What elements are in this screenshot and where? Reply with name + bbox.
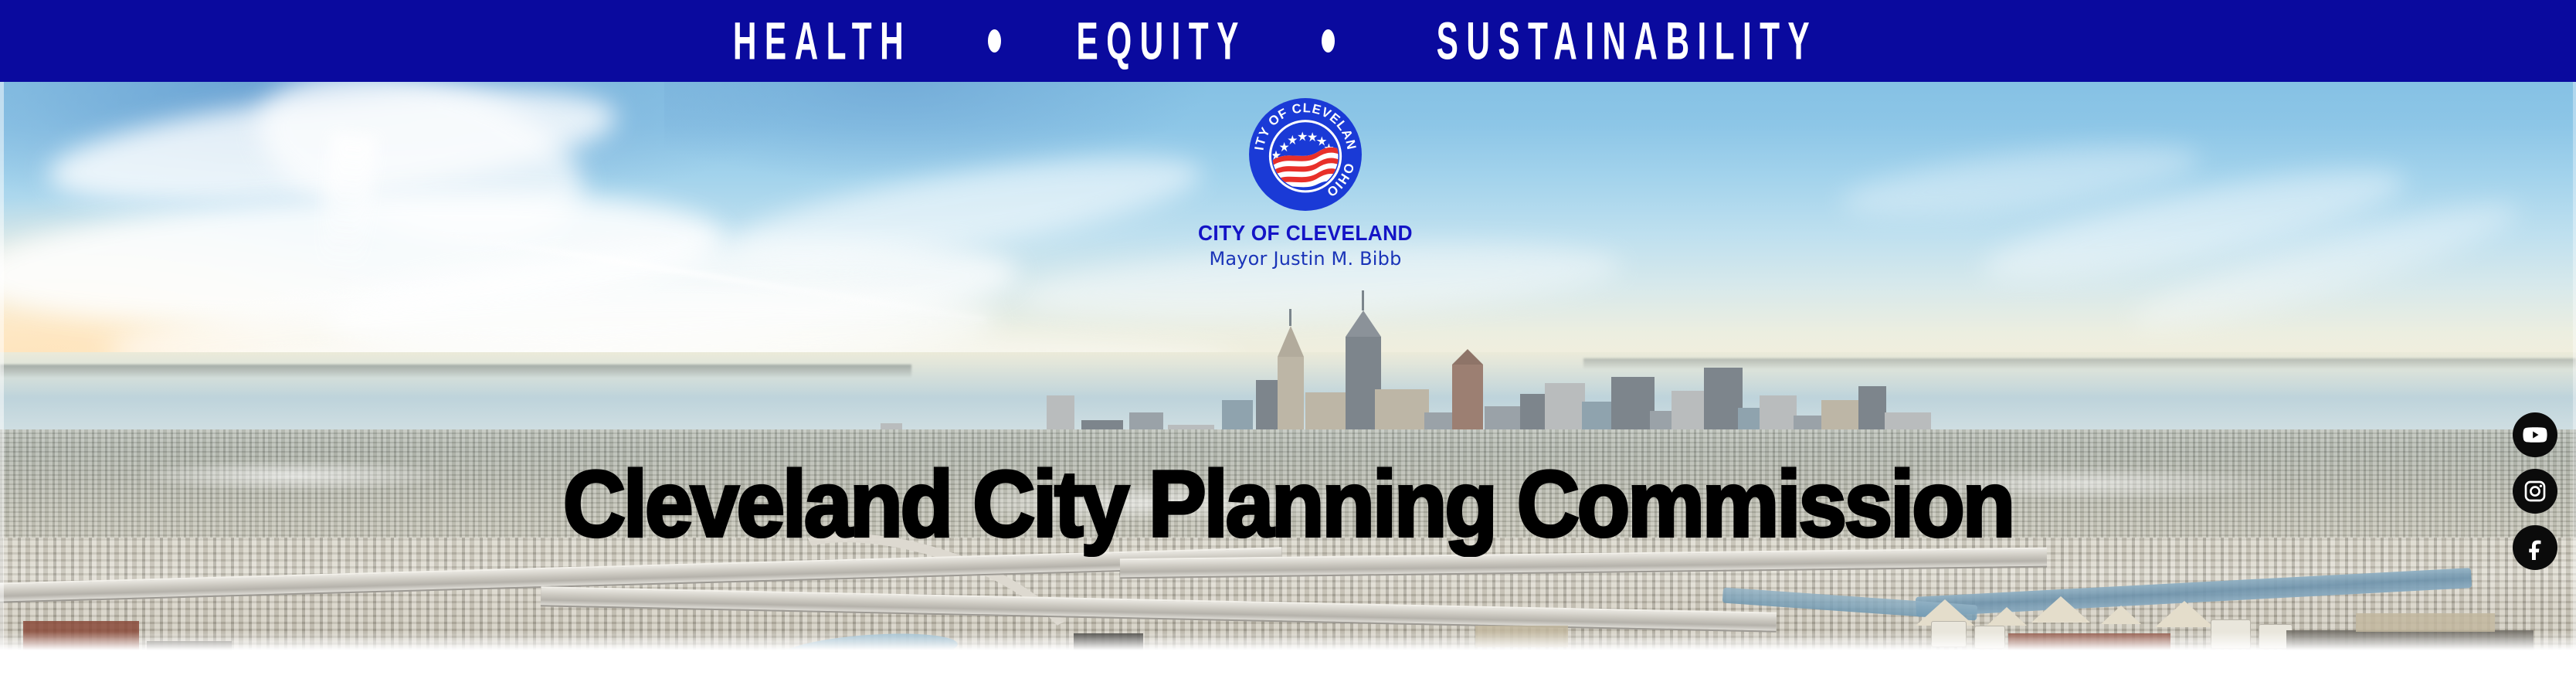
tagline-separator-dot-2 bbox=[1322, 29, 1335, 53]
instagram-icon bbox=[2523, 479, 2547, 504]
photo-left-edge bbox=[0, 80, 4, 652]
mayor-name-label: Mayor Justin M. Bibb bbox=[1159, 249, 1452, 268]
aggregate-pile bbox=[2155, 601, 2214, 627]
facebook-link[interactable] bbox=[2513, 525, 2557, 570]
facebook-icon bbox=[2523, 535, 2547, 560]
key-tower-crown bbox=[1346, 310, 1381, 337]
terminal-tower-mast bbox=[1289, 309, 1291, 326]
social-media-rail bbox=[2513, 412, 2557, 570]
key-tower-mast bbox=[1362, 290, 1364, 310]
aggregate-pile bbox=[1987, 607, 2027, 626]
photo-bottom-fade bbox=[0, 632, 2576, 652]
terminal-tower-spire bbox=[1278, 326, 1304, 357]
tagline-track: HEALTH EQUITY SUSTAINABILITY bbox=[700, 21, 1876, 62]
tagline-word-sustainability: SUSTAINABILITY bbox=[1428, 15, 1827, 68]
page-header-banner: HEALTH EQUITY SUSTAINABILITY bbox=[0, 0, 2576, 682]
youtube-icon bbox=[2522, 422, 2548, 448]
aggregate-pile bbox=[2031, 596, 2090, 623]
tagline-bar: HEALTH EQUITY SUSTAINABILITY bbox=[0, 0, 2576, 82]
tagline-word-equity: EQUITY bbox=[1067, 15, 1255, 68]
aggregate-pile bbox=[2101, 606, 2141, 624]
building-roof bbox=[2356, 613, 2495, 632]
tagline-word-health: HEALTH bbox=[725, 15, 921, 68]
youtube-link[interactable] bbox=[2513, 412, 2557, 457]
city-identity-block[interactable]: CITY OF CLEVELAND OHIO bbox=[1159, 96, 1452, 268]
instagram-link[interactable] bbox=[2513, 469, 2557, 514]
page-title: Cleveland City Planning Commission bbox=[0, 454, 2576, 555]
cleveland-city-seal-icon: CITY OF CLEVELAND OHIO bbox=[1247, 96, 1364, 213]
city-of-cleveland-wordmark: CITY OF CLEVELAND bbox=[1167, 222, 1443, 244]
photo-right-edge bbox=[2573, 80, 2576, 652]
tagline-separator-dot-1 bbox=[988, 29, 1001, 53]
skyline-building-crown bbox=[1452, 349, 1483, 365]
